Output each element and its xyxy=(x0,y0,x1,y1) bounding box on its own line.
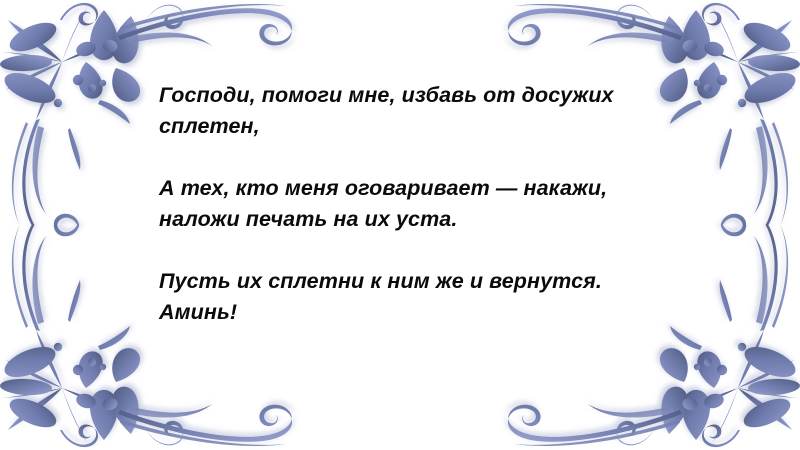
verse-text-block: Господи, помоги мне, избавь от досужих с… xyxy=(159,80,629,328)
verse-paragraph-3: Пусть их сплетни к ним же и вернутся. Ам… xyxy=(159,266,629,328)
verse-paragraph-2: А тех, кто меня оговаривает — накажи, на… xyxy=(159,173,629,235)
quote-card: Господи, помоги мне, избавь от досужих с… xyxy=(0,0,800,450)
verse-paragraph-1: Господи, помоги мне, избавь от досужих с… xyxy=(159,80,629,142)
